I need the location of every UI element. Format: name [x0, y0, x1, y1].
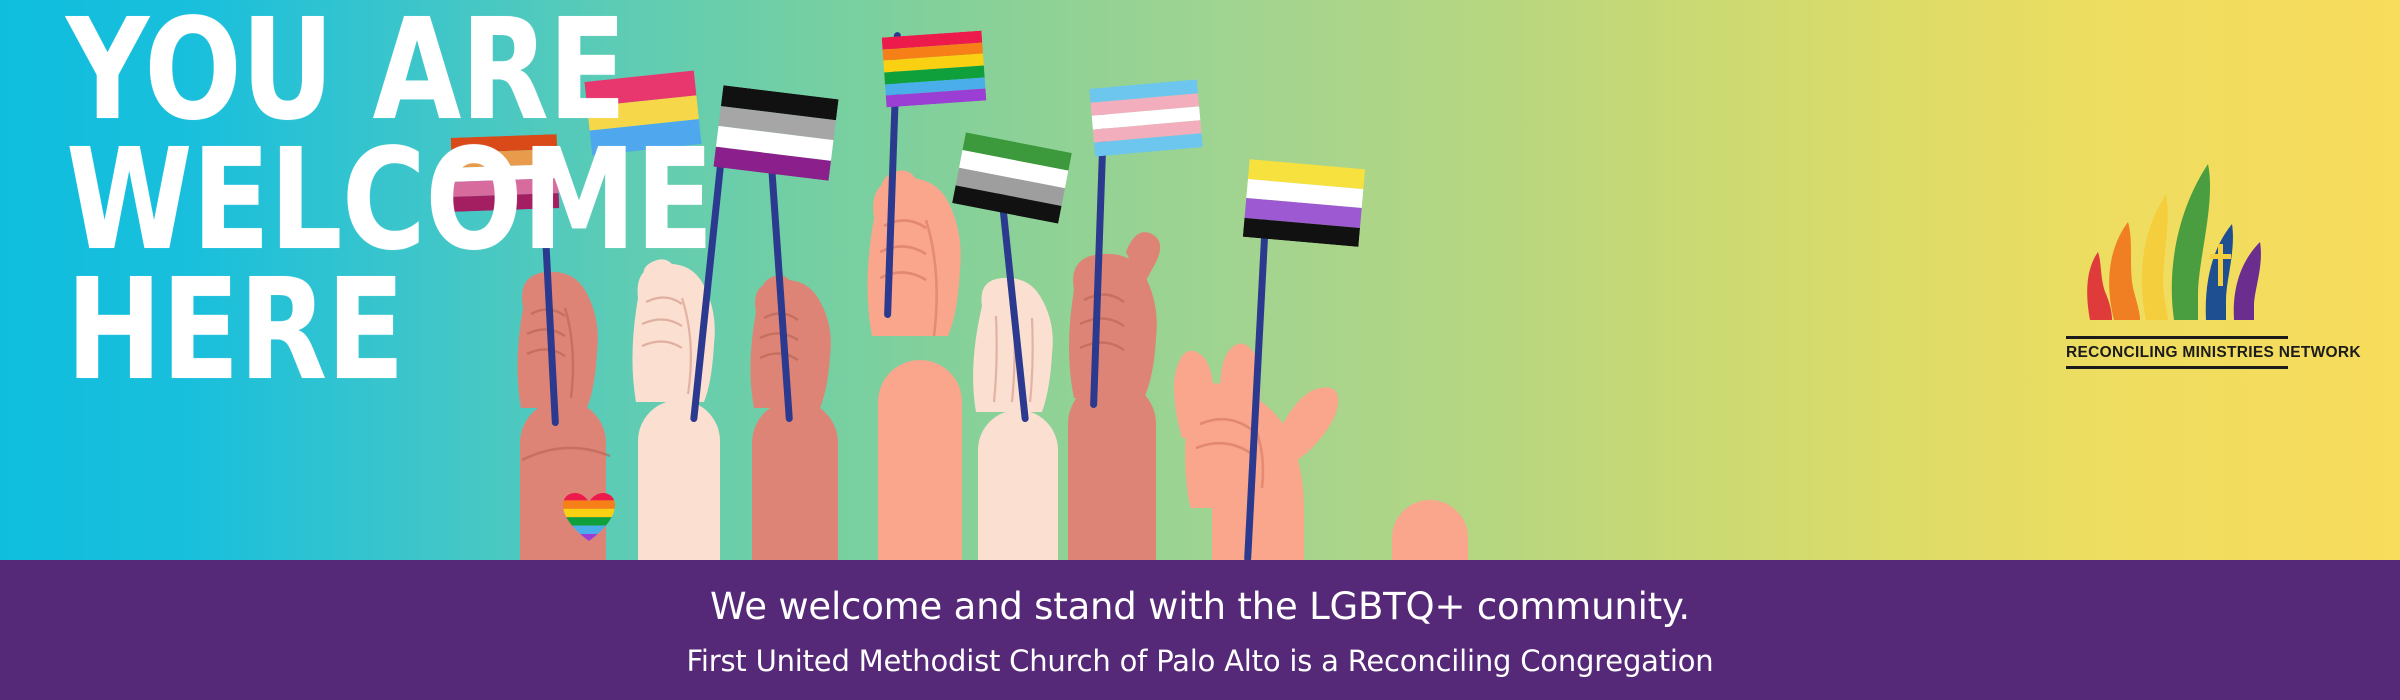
rainbow-pride-flag: [882, 31, 987, 108]
headline-line-2: WELCOME: [66, 136, 713, 266]
footer-secondary-text: First United Methodist Church of Palo Al…: [0, 628, 2400, 678]
transgender-pride-flag: [1089, 79, 1203, 156]
headline-line-3: HERE: [66, 266, 713, 396]
page-title: YOU ARE WELCOME HERE: [66, 6, 713, 397]
hand-7-ily-sign: [1158, 318, 1368, 508]
footer-bar: We welcome and stand with the LGBTQ+ com…: [0, 560, 2400, 700]
welcome-banner: YOU ARE WELCOME HERE: [0, 0, 2400, 700]
footer-primary-text: We welcome and stand with the LGBTQ+ com…: [0, 560, 2400, 628]
logo-rule-bottom: [2066, 366, 2288, 369]
asexual-pride-flag: [713, 85, 838, 181]
rainbow-heart-tattoo: [562, 492, 616, 542]
hand-1-wrist-crease: [516, 440, 616, 474]
logo-rule-top: [2066, 336, 2288, 339]
hand-3-fist: [736, 258, 866, 408]
headline-line-1: YOU ARE: [66, 6, 713, 136]
logo-wordmark: RECONCILING MINISTRIES NETWORK: [2066, 341, 2288, 365]
rainbow-flame-icon: [2066, 148, 2288, 320]
reconciling-ministries-network-logo[interactable]: RECONCILING MINISTRIES NETWORK: [2066, 148, 2288, 373]
nonbinary-pride-flag: [1243, 159, 1365, 247]
